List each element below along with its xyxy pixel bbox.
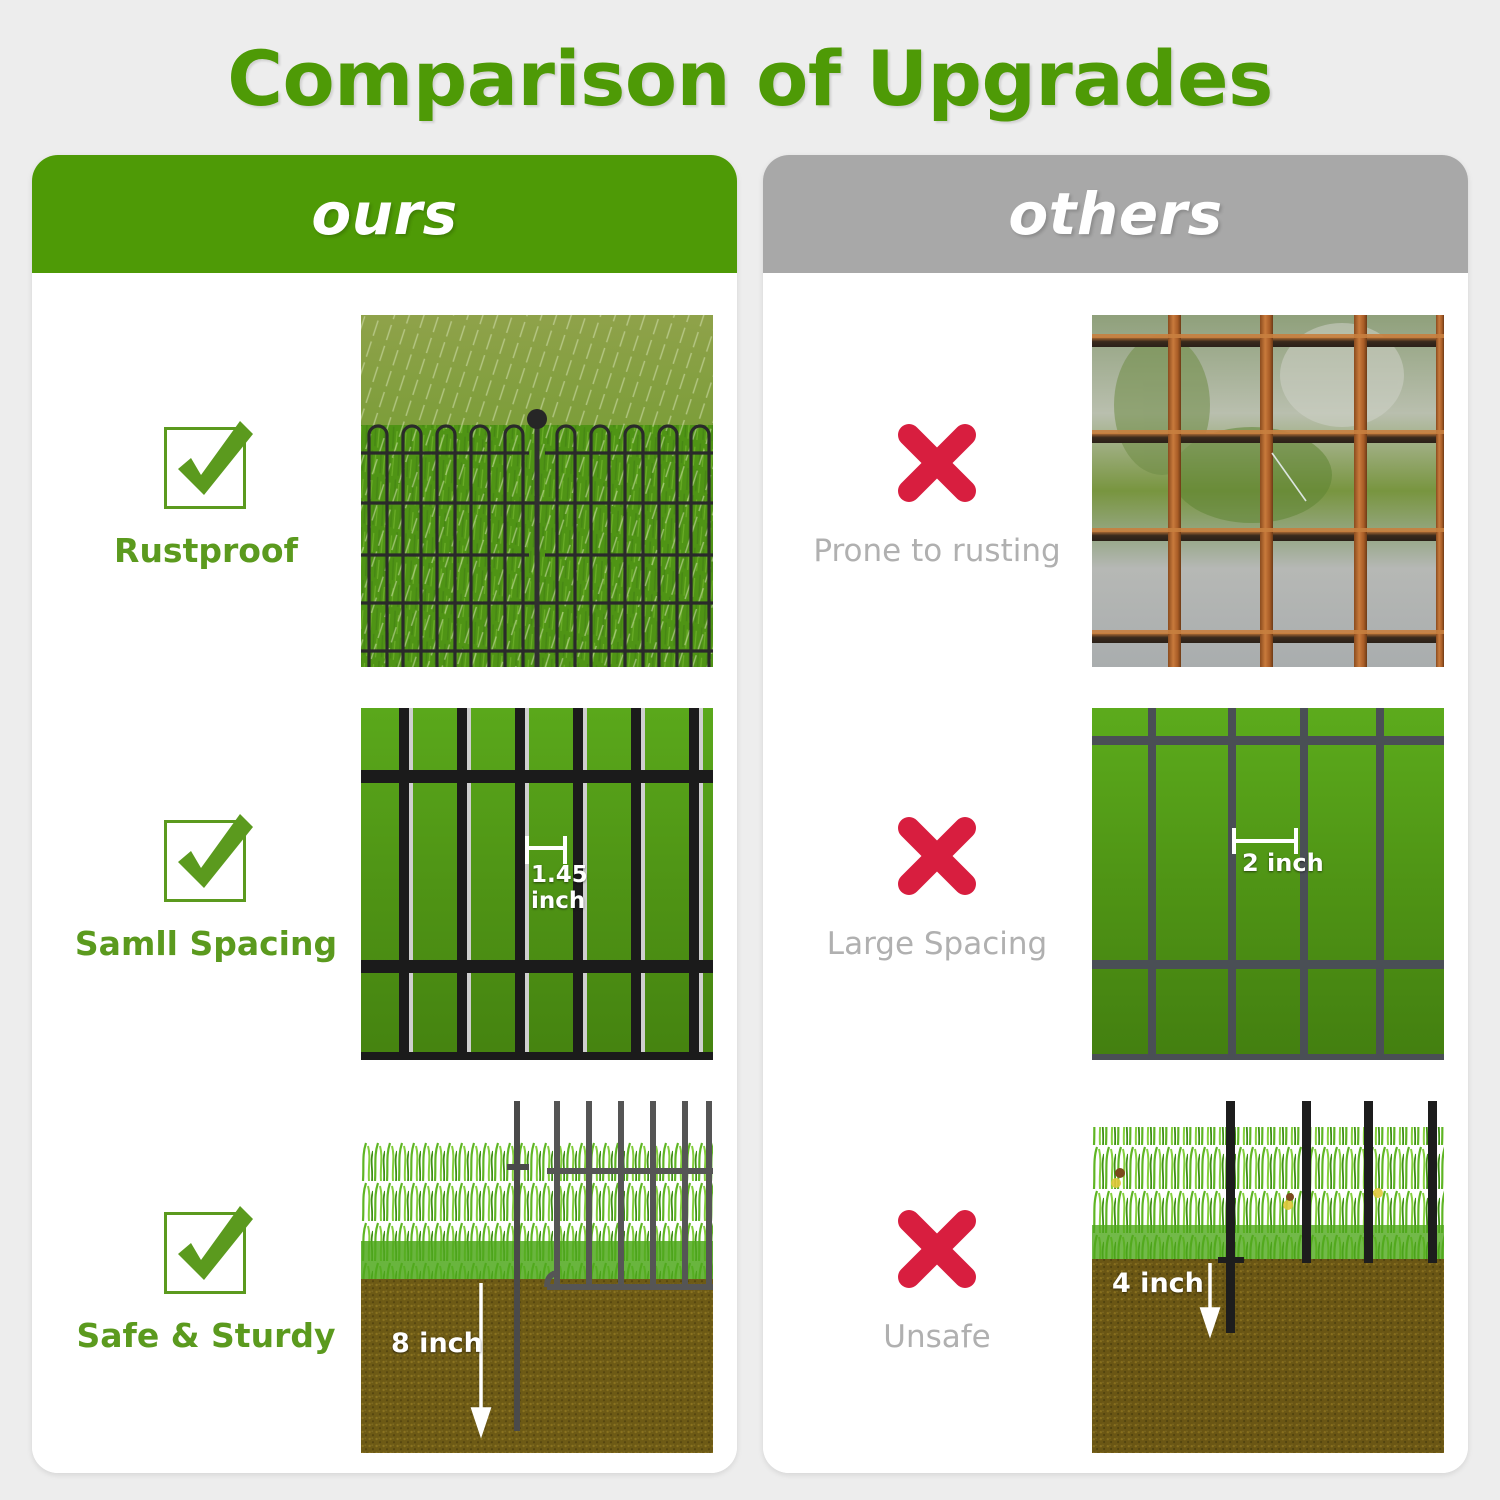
- row-large-spacing: Large Spacing: [763, 688, 1468, 1081]
- row-safe-sturdy: Safe & Sturdy: [32, 1080, 737, 1473]
- feature-large-spacing: Large Spacing: [787, 806, 1087, 962]
- feature-label-rustproof: Rustproof: [114, 531, 298, 570]
- image-rainy-fence: [361, 315, 713, 667]
- feature-small-spacing: Samll Spacing: [56, 806, 356, 963]
- dimension-label-4-inch: 4 inch: [1112, 1269, 1204, 1299]
- column-header-others: others: [763, 155, 1468, 273]
- dimension-label-1-45-inch: 1.45inch: [531, 863, 588, 915]
- comparison-columns: ours Rustproof: [32, 155, 1468, 1473]
- image-small-spacing: 1.45inch: [361, 708, 713, 1060]
- feature-safe-sturdy: Safe & Sturdy: [56, 1198, 356, 1355]
- feature-label-prone-to-rusting: Prone to rusting: [813, 533, 1060, 569]
- feature-label-unsafe: Unsafe: [883, 1319, 990, 1355]
- dimension-label-2-inch: 2 inch: [1242, 850, 1324, 877]
- column-body-others: Prone to rusting: [763, 273, 1468, 1473]
- feature-label-small-spacing: Samll Spacing: [75, 924, 337, 963]
- row-small-spacing: Samll Spacing: [32, 688, 737, 1081]
- check-icon: [156, 806, 256, 906]
- x-mark-glyph: [887, 806, 987, 906]
- dimension-label-8-inch: 8 inch: [391, 1329, 483, 1359]
- x-icon: [887, 413, 987, 513]
- image-rusty-mesh: [1092, 315, 1444, 667]
- feature-label-large-spacing: Large Spacing: [827, 926, 1047, 962]
- x-icon: [887, 806, 987, 906]
- image-large-spacing: 2 inch: [1092, 708, 1444, 1060]
- check-mark-glyph: [156, 413, 256, 513]
- x-icon: [887, 1199, 987, 1299]
- x-mark-glyph: [887, 1199, 987, 1299]
- check-icon: [156, 1198, 256, 1298]
- feature-prone-to-rusting: Prone to rusting: [787, 413, 1087, 569]
- row-prone-to-rusting: Prone to rusting: [763, 295, 1468, 688]
- feature-rustproof: Rustproof: [56, 413, 356, 570]
- row-unsafe: Unsafe: [763, 1080, 1468, 1473]
- check-icon: [156, 413, 256, 513]
- image-shallow-stake: 4 inch: [1092, 1101, 1444, 1453]
- check-mark-glyph: [156, 1198, 256, 1298]
- column-header-ours: ours: [32, 155, 737, 273]
- row-rustproof: Rustproof: [32, 295, 737, 688]
- feature-unsafe: Unsafe: [787, 1199, 1087, 1355]
- column-body-ours: Rustproof: [32, 273, 737, 1473]
- x-mark-glyph: [887, 413, 987, 513]
- image-deep-stake: 8 inch: [361, 1101, 713, 1453]
- comparison-infographic: Comparison of Upgrades ours Rustproof: [0, 0, 1500, 1500]
- page-title: Comparison of Upgrades: [0, 34, 1500, 123]
- column-ours: ours Rustproof: [32, 155, 737, 1473]
- feature-label-safe-sturdy: Safe & Sturdy: [77, 1316, 336, 1355]
- check-mark-glyph: [156, 806, 256, 906]
- column-others: others Prone to rusting: [763, 155, 1468, 1473]
